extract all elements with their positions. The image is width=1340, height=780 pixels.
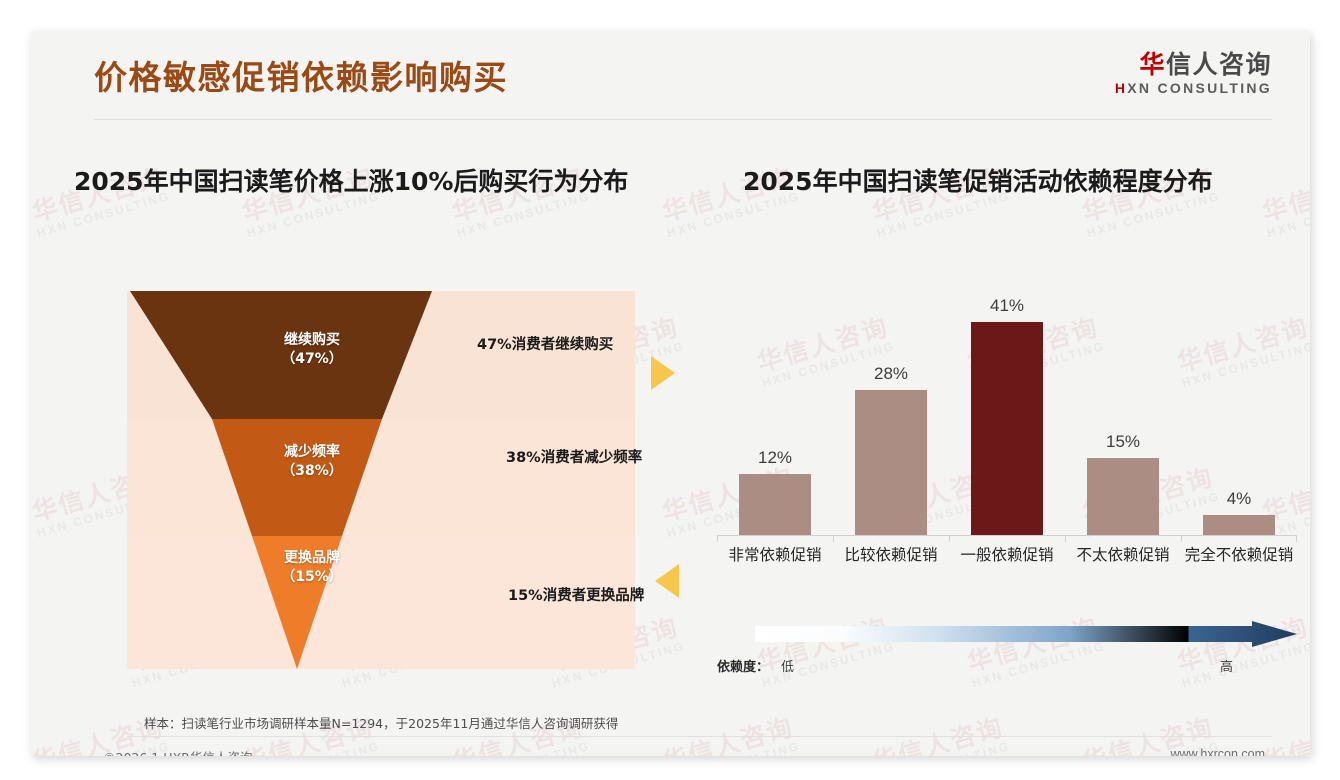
gradient-arrow-icon: [755, 621, 1297, 647]
bar-column[interactable]: 28%: [833, 286, 949, 536]
axis-tick-0: [717, 535, 718, 542]
funnel-label-0: 继续购买 （47%）: [232, 331, 392, 369]
logo-chinese: 华信人咨询: [1115, 51, 1272, 79]
category-label-4: 完全不依赖促销: [1181, 543, 1297, 565]
legend-caption: 依赖度：: [717, 656, 769, 675]
bar-value-label-1: 28%: [833, 364, 949, 384]
funnel-note-2: 15%消费者更换品牌: [508, 584, 644, 605]
page-root: 华信人咨询HXN CONSULTING华信人咨询HXN CONSULTING华信…: [0, 0, 1340, 780]
axis-tick-3: [1065, 535, 1066, 542]
dependency-gradient-legend: 依赖度： 低 高: [717, 621, 1297, 683]
arrow-right-icon: [651, 356, 675, 390]
bar-value-label-3: 15%: [1065, 432, 1181, 452]
footer-copyright: ©2026.1 HXR华信人咨询: [103, 747, 252, 756]
category-label-3: 不太依赖促销: [1065, 543, 1181, 565]
right-section-title: 2025年中国扫读笔促销活动依赖程度分布: [743, 162, 1213, 198]
category-label-1: 比较依赖促销: [833, 543, 949, 565]
axis-tick-4: [1181, 535, 1182, 542]
legend-high-label: 高: [1220, 656, 1233, 675]
funnel-label-0-value: （47%）: [281, 351, 343, 367]
funnel-chart: 继续购买 （47%） 减少频率 （38%） 更换品牌 （15%） 47%消费者继…: [127, 291, 635, 669]
footer-website: www.hxrcon.com: [1171, 747, 1265, 756]
watermark: 华信人咨询HXN CONSULTING: [1258, 713, 1310, 756]
funnel-label-1-name: 减少频率: [284, 444, 340, 460]
watermark: 华信人咨询HXN CONSULTING: [868, 713, 1012, 756]
bar-3[interactable]: [1087, 458, 1159, 536]
logo-english: HXN CONSULTING: [1115, 80, 1272, 96]
left-section-title: 2025年中国扫读笔价格上涨10%后购买行为分布: [74, 162, 628, 198]
bar-0[interactable]: [739, 474, 811, 537]
source-footnote: 样本：扫读笔行业市场调研样本量N=1294，于2025年11月通过华信人咨询调研…: [144, 713, 618, 732]
legend-low-label: 低: [781, 656, 794, 675]
funnel-note-0: 47%消费者继续购买: [477, 333, 613, 354]
header-divider: [94, 119, 1272, 120]
bar-chart-axis: [717, 535, 1297, 536]
slide-card: 华信人咨询HXN CONSULTING华信人咨询HXN CONSULTING华信…: [31, 31, 1310, 756]
bar-4[interactable]: [1203, 515, 1275, 536]
bar-value-label-4: 4%: [1181, 489, 1297, 509]
bar-1[interactable]: [855, 390, 927, 536]
slide-header: 价格敏感促销依赖影响购买 华信人咨询 HXN CONSULTING: [31, 31, 1310, 121]
bar-2[interactable]: [971, 322, 1043, 536]
logo-en-rest: XN CONSULTING: [1127, 80, 1272, 96]
logo-h-char: H: [1115, 80, 1127, 96]
bar-chart-plot: 12%28%41%15%4%: [717, 286, 1297, 536]
funnel-label-2-value: （15%）: [281, 569, 343, 585]
funnel-label-2: 更换品牌 （15%）: [232, 549, 392, 587]
funnel-note-1: 38%消费者减少频率: [506, 446, 642, 467]
watermark: 华信人咨询HXN CONSULTING: [658, 713, 802, 756]
funnel-label-2-name: 更换品牌: [284, 550, 340, 566]
logo-cn-rest: 信人咨询: [1166, 50, 1272, 79]
funnel-label-0-name: 继续购买: [284, 332, 340, 348]
bar-value-label-2: 41%: [949, 296, 1065, 316]
funnel-label-1-value: （38%）: [281, 463, 343, 479]
logo-hua-char: 华: [1139, 50, 1166, 79]
company-logo: 华信人咨询 HXN CONSULTING: [1115, 51, 1272, 96]
bar-column[interactable]: 12%: [717, 286, 833, 536]
bar-column[interactable]: 4%: [1181, 286, 1297, 536]
arrow-left-icon: [655, 564, 679, 598]
category-label-2: 一般依赖促销: [949, 543, 1065, 565]
category-label-0: 非常依赖促销: [717, 543, 833, 565]
axis-tick-2: [949, 535, 950, 542]
page-title: 价格敏感促销依赖影响购买: [94, 51, 508, 99]
bar-column[interactable]: 41%: [949, 286, 1065, 536]
axis-tick-5: [1296, 535, 1297, 542]
footer-divider: [127, 736, 1272, 737]
bar-column[interactable]: 15%: [1065, 286, 1181, 536]
watermark: 华信人咨询HXN CONSULTING: [1258, 163, 1310, 241]
bar-value-label-0: 12%: [717, 448, 833, 468]
axis-tick-1: [833, 535, 834, 542]
funnel-label-1: 减少频率 （38%）: [232, 443, 392, 481]
bar-chart: 12%28%41%15%4% 非常依赖促销比较依赖促销一般依赖促销不太依赖促销完…: [717, 286, 1297, 571]
